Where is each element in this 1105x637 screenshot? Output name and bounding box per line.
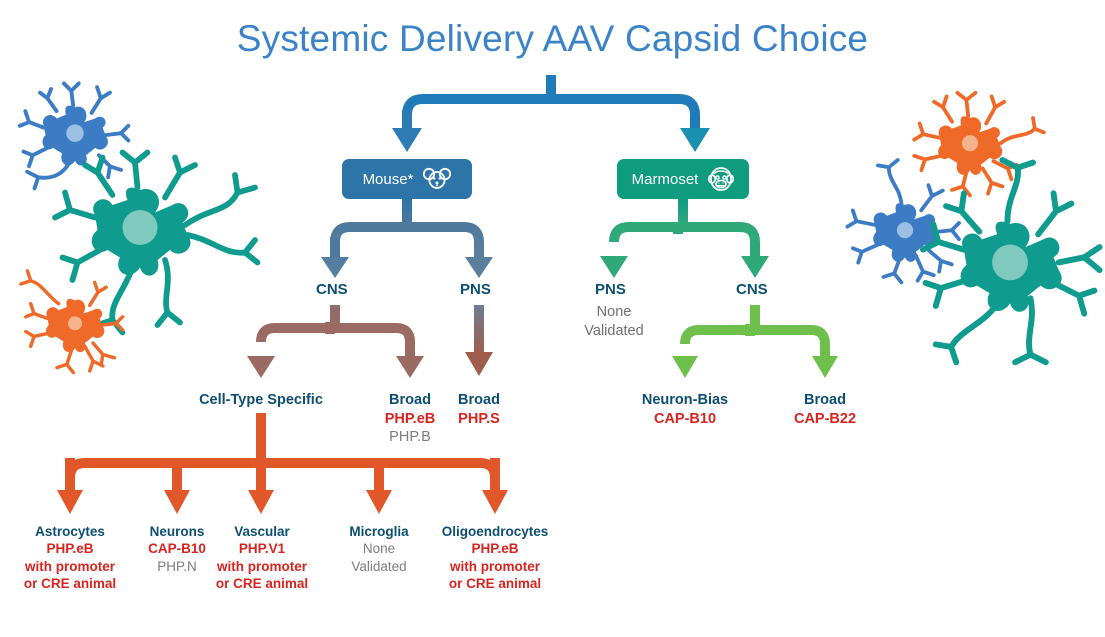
flowchart-canvas: Systemic Delivery AAV Capsid Choice bbox=[0, 0, 1105, 637]
astrocytes-capsid: PHP.eB bbox=[8, 540, 132, 557]
right-neuron-blue bbox=[847, 160, 959, 282]
broad-pns-capsid-1: PHP.S bbox=[428, 410, 530, 429]
label-pns-mouse: PNS bbox=[460, 281, 491, 298]
node-neuron-bias: Neuron-Bias CAP-B10 bbox=[625, 391, 745, 428]
cell-type-specific-header: Cell-Type Specific bbox=[181, 391, 341, 410]
oligodendrocytes-capsid: PHP.eB bbox=[422, 540, 568, 557]
marmoset-pns-none-validated: None Validated bbox=[549, 303, 679, 340]
node-cell-type-specific: Cell-Type Specific bbox=[181, 391, 341, 410]
microglia-note-1: Validated bbox=[327, 558, 431, 575]
oligodendrocytes-note-2: or CRE animal bbox=[422, 575, 568, 592]
label-cns-mouse: CNS bbox=[316, 281, 348, 298]
node-broad-marmoset: Broad CAP-B22 bbox=[772, 391, 878, 428]
node-vascular: Vascular PHP.V1 with promoter or CRE ani… bbox=[200, 523, 324, 592]
vascular-capsid: PHP.V1 bbox=[200, 540, 324, 557]
marmoset-pns-line-1: None bbox=[549, 303, 679, 322]
broad-marmoset-capsid: CAP-B22 bbox=[772, 410, 878, 429]
neuron-bias-capsid: CAP-B10 bbox=[625, 410, 745, 429]
left-neuron-blue bbox=[20, 83, 129, 188]
vascular-note-1: with promoter bbox=[200, 558, 324, 575]
right-neuron-teal bbox=[923, 160, 1100, 362]
astrocytes-note-2: or CRE animal bbox=[8, 575, 132, 592]
broad-pns-header: Broad bbox=[428, 391, 530, 410]
astrocytes-note-1: with promoter bbox=[8, 558, 132, 575]
node-microglia: Microglia None Validated bbox=[327, 523, 431, 575]
astrocytes-header: Astrocytes bbox=[8, 523, 132, 540]
label-cns-marmoset: CNS bbox=[736, 281, 768, 298]
mouse-head-icon bbox=[423, 167, 451, 191]
neuron-bias-header: Neuron-Bias bbox=[625, 391, 745, 410]
microglia-header: Microglia bbox=[327, 523, 431, 540]
species-box-mouse[interactable]: Mouse* bbox=[342, 159, 472, 199]
oligodendrocytes-note-1: with promoter bbox=[422, 558, 568, 575]
vascular-header: Vascular bbox=[200, 523, 324, 540]
left-neuron-teal bbox=[55, 153, 258, 333]
species-label-marmoset: Marmoset bbox=[632, 172, 699, 187]
oligodendrocytes-header: Oligoendrocytes bbox=[422, 523, 568, 540]
node-broad-pns: Broad PHP.S bbox=[428, 391, 530, 428]
species-label-mouse: Mouse* bbox=[363, 172, 414, 187]
vascular-note-2: or CRE animal bbox=[200, 575, 324, 592]
right-neuron-orange bbox=[914, 93, 1044, 196]
monkey-head-icon bbox=[708, 166, 734, 192]
species-box-marmoset[interactable]: Marmoset bbox=[617, 159, 749, 199]
label-pns-marmoset: PNS bbox=[595, 281, 626, 298]
marmoset-pns-line-2: Validated bbox=[549, 322, 679, 341]
node-astrocytes: Astrocytes PHP.eB with promoter or CRE a… bbox=[8, 523, 132, 592]
node-oligodendrocytes: Oligoendrocytes PHP.eB with promoter or … bbox=[422, 523, 568, 592]
broad-cns-capsid-2: PHP.B bbox=[355, 428, 465, 447]
microglia-capsid: None bbox=[327, 540, 431, 557]
broad-marmoset-header: Broad bbox=[772, 391, 878, 410]
